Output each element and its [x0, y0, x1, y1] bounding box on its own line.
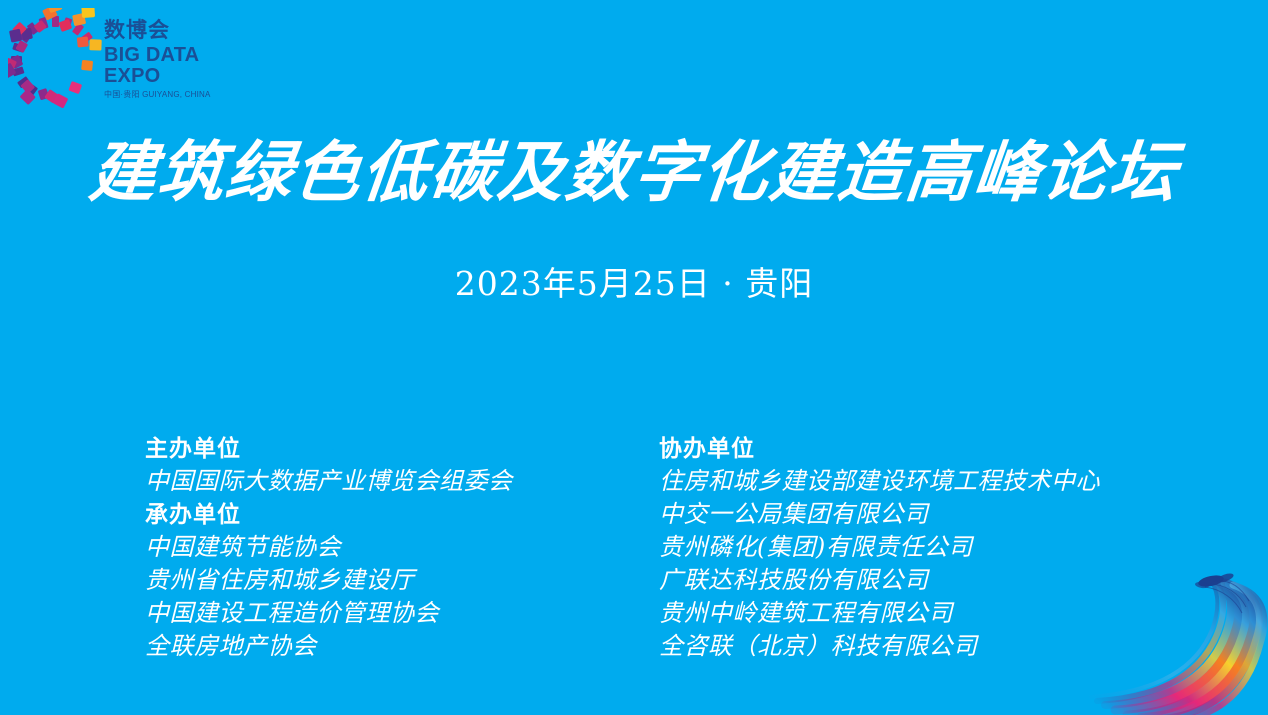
organizer-heading-undertaker: 承办单位: [145, 498, 645, 531]
organizers-right-column: 协办单位 住房和城乡建设部建设环境工程技术中心 中交一公局集团有限公司 贵州磷化…: [659, 432, 1219, 663]
organizer-item: 中国国际大数据产业博览会组委会: [145, 465, 645, 498]
organizer-heading-coorganizer: 协办单位: [659, 432, 1219, 465]
logo-chinese-name: 数博会: [104, 20, 208, 41]
organizers-left-column: 主办单位 中国国际大数据产业博览会组委会 承办单位 中国建筑节能协会 贵州省住房…: [145, 432, 645, 663]
organizer-heading-host: 主办单位: [145, 432, 645, 465]
logo-location-text: 中国·贵阳 GUIYANG, CHINA: [104, 91, 208, 99]
big-data-expo-mark-icon: [8, 8, 103, 108]
forum-title: 建筑绿色低碳及数字化建造高峰论坛: [0, 133, 1268, 211]
organizer-item: 全咨联（北京）科技有限公司: [659, 630, 1219, 663]
organizer-item: 贵州中岭建筑工程有限公司: [659, 597, 1219, 630]
organizer-item: 中交一公局集团有限公司: [659, 498, 1219, 531]
event-logo: 数博会 BIG DATA EXPO 中国·贵阳 GUIYANG, CHINA: [8, 6, 208, 110]
organizer-item: 全联房地产协会: [145, 630, 645, 663]
logo-english-line1: BIG DATA: [104, 45, 208, 65]
organizer-item: 住房和城乡建设部建设环境工程技术中心: [659, 465, 1219, 498]
poster-canvas: 数博会 BIG DATA EXPO 中国·贵阳 GUIYANG, CHINA 建…: [0, 0, 1268, 715]
organizer-item: 贵州磷化(集团)有限责任公司: [659, 531, 1219, 564]
logo-wordmark: 数博会 BIG DATA EXPO 中国·贵阳 GUIYANG, CHINA: [104, 20, 208, 110]
organizer-item: 中国建设工程造价管理协会: [145, 597, 645, 630]
organizer-item: 贵州省住房和城乡建设厅: [145, 564, 645, 597]
date-location-line: 2023年5月25日 · 贵阳: [0, 263, 1268, 305]
logo-english-line2: EXPO: [104, 66, 208, 86]
organizers-section: 主办单位 中国国际大数据产业博览会组委会 承办单位 中国建筑节能协会 贵州省住房…: [0, 432, 1268, 662]
organizer-item: 中国建筑节能协会: [145, 531, 645, 564]
organizer-item: 广联达科技股份有限公司: [659, 564, 1219, 597]
